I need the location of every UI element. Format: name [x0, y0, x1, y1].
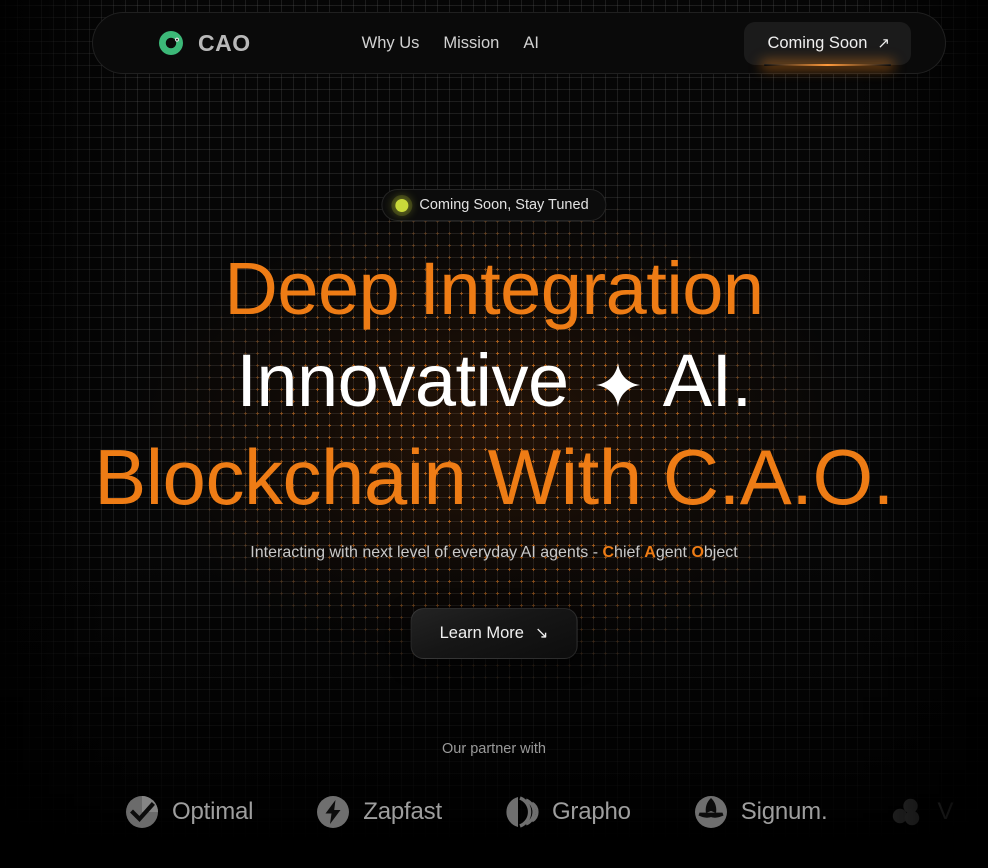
nav-links: Why Us Mission AI — [362, 34, 539, 53]
partners-track: Optimal Zapfast — [125, 786, 953, 838]
headline-line-2-after: AI. — [663, 339, 752, 422]
status-dot-icon — [395, 199, 408, 212]
status-badge-label: Coming Soon, Stay Tuned — [419, 197, 588, 213]
coming-soon-button[interactable]: Coming Soon ↗ — [744, 22, 911, 65]
arrow-down-right-icon: ↘ — [535, 626, 548, 642]
sound-waves-icon — [505, 795, 539, 829]
nav-link-why-us[interactable]: Why Us — [362, 34, 420, 53]
headline-line-1: Deep Integration — [0, 252, 988, 326]
subtitle-highlight-a: A — [644, 544, 656, 561]
brand[interactable]: CAO — [156, 28, 251, 58]
cao-circle-logo-icon — [156, 28, 186, 58]
three-circles-icon — [890, 795, 924, 829]
sparkle-star-icon — [595, 346, 641, 420]
headline-line-3: Blockchain With C.A.O. — [0, 438, 988, 516]
partner-grapho[interactable]: Grapho — [505, 795, 631, 829]
partners-label: Our partner with — [0, 741, 988, 757]
learn-more-button[interactable]: Learn More ↘ — [411, 608, 578, 659]
status-badge: Coming Soon, Stay Tuned — [381, 189, 606, 221]
page-title: Deep Integration Innovative AI. Blockcha… — [0, 252, 988, 516]
headline-line-2: Innovative AI. — [0, 344, 988, 420]
lightning-bolt-circle-icon — [316, 795, 350, 829]
brand-name: CAO — [198, 30, 251, 57]
partner-name: Zapfast — [363, 798, 442, 826]
partners-strip: Optimal Zapfast — [0, 786, 988, 838]
check-circle-icon — [125, 795, 159, 829]
main-navbar: CAO Why Us Mission AI Coming Soon ↗ — [92, 12, 946, 74]
fan-circle-icon — [694, 795, 728, 829]
partner-name: V — [937, 798, 953, 826]
partner-partial[interactable]: V — [890, 795, 953, 829]
coming-soon-label: Coming Soon — [767, 34, 867, 53]
partner-optimal[interactable]: Optimal — [125, 795, 253, 829]
learn-more-label: Learn More — [440, 624, 524, 643]
nav-link-ai[interactable]: AI — [523, 34, 539, 53]
headline-line-2-before: Innovative — [236, 339, 568, 422]
partner-zapfast[interactable]: Zapfast — [316, 795, 442, 829]
subtitle-lead: Interacting with next level of everyday … — [250, 544, 602, 561]
hero-subtitle: Interacting with next level of everyday … — [0, 544, 988, 562]
learn-more-wrap: Learn More ↘ — [411, 608, 578, 659]
partner-name: Optimal — [172, 798, 253, 826]
partner-signum[interactable]: Signum. — [694, 795, 828, 829]
arrow-up-right-icon: ↗ — [877, 36, 890, 51]
subtitle-rest-object: bject — [704, 544, 738, 561]
page-root: CAO Why Us Mission AI Coming Soon ↗ Comi… — [0, 0, 988, 868]
subtitle-highlight-o: O — [691, 544, 703, 561]
subtitle-rest-agent: gent — [656, 544, 692, 561]
nav-link-mission[interactable]: Mission — [443, 34, 499, 53]
partner-name: Signum. — [741, 798, 828, 826]
subtitle-rest-chief: hief — [614, 544, 644, 561]
subtitle-highlight-c: C — [602, 544, 614, 561]
navbar-cta-wrap: Coming Soon ↗ — [744, 22, 911, 65]
partner-name: Grapho — [552, 798, 631, 826]
